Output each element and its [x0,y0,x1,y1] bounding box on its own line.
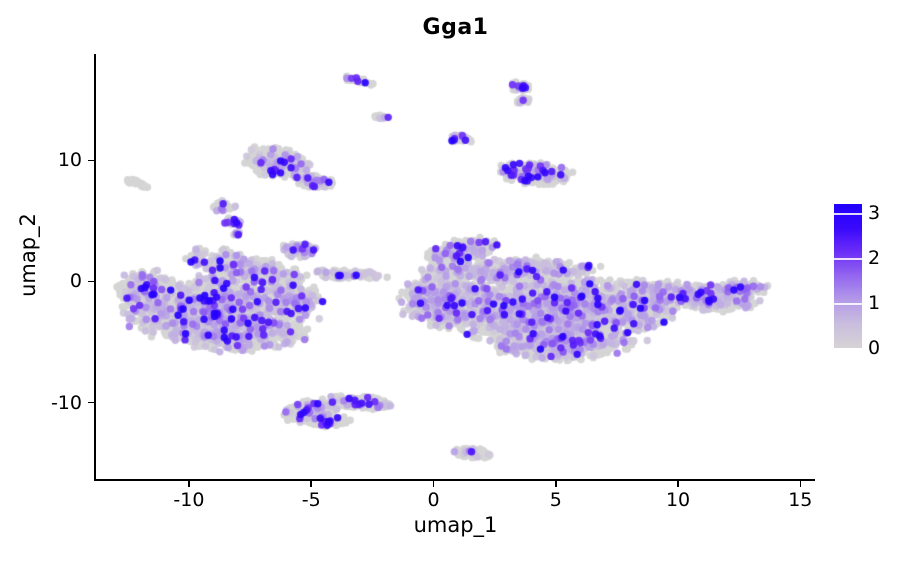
colorbar-tick-label: 1 [868,293,880,313]
x-tick-label: 0 [398,488,468,512]
x-tick-mark [310,481,312,487]
x-tick-label: 5 [521,488,591,512]
x-tick-label: 10 [643,488,713,512]
colorbar-tick-label: 0 [868,338,880,358]
colorbar-tick-label: 2 [868,248,880,268]
x-axis-spine [94,479,815,481]
plot-area [96,55,815,480]
y-tick-mark [88,281,94,283]
page-title: Gga1 [96,14,815,42]
colorbar-tick-mark [834,303,862,305]
colorbar: 3210 [834,204,911,350]
colorbar-tick-label: 3 [868,203,880,223]
x-tick-mark [188,481,190,487]
x-tick-label: -10 [154,488,224,512]
y-axis-spine [94,54,96,481]
x-tick-label: -5 [276,488,346,512]
umap-figure: Gga1 -10-5051015 100-10 umap_1 umap_2 32… [0,0,911,562]
scatter-plot-canvas [96,55,815,480]
y-tick-mark [88,160,94,162]
x-tick-mark [800,481,802,487]
x-tick-mark [555,481,557,487]
colorbar-gradient [834,204,862,348]
y-axis-label: umap_2 [15,165,41,345]
colorbar-tick-mark [834,213,862,215]
x-tick-label: 15 [765,488,835,512]
x-tick-mark [433,481,435,487]
y-tick-label: -10 [10,392,82,414]
y-tick-mark [88,402,94,404]
x-axis-label: umap_1 [96,512,815,538]
colorbar-tick-mark [834,258,862,260]
x-tick-mark [677,481,679,487]
